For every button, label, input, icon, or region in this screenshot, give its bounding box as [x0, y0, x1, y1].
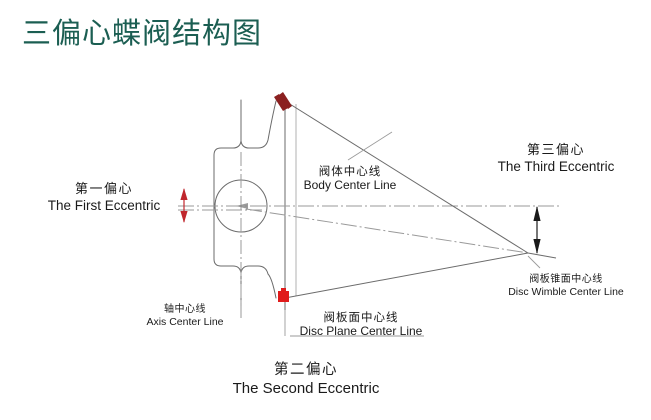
label-third-eccentric-en: The Third Eccentric — [462, 159, 650, 175]
label-third-eccentric-cn: 第三偏心 — [462, 143, 650, 159]
label-first-eccentric: 第一偏心 The First Eccentric — [14, 182, 194, 214]
disc-wimble-label-leader — [528, 256, 540, 268]
label-second-eccentric-cn: 第二偏心 — [186, 362, 426, 380]
label-body-center-line: 阀体中心线 Body Center Line — [288, 164, 412, 193]
label-first-eccentric-cn: 第一偏心 — [14, 182, 194, 198]
label-third-eccentric: 第三偏心 The Third Eccentric — [462, 143, 650, 175]
label-disc-wimble-center-line-en: Disc Wimble Center Line — [490, 286, 642, 299]
label-disc-plane-center-line-cn: 阀板面中心线 — [288, 310, 434, 324]
label-axis-center-line: 轴中心线 Axis Center Line — [126, 304, 244, 329]
label-disc-plane-center-line: 阀板面中心线 Disc Plane Center Line — [288, 310, 434, 339]
label-body-center-line-en: Body Center Line — [288, 178, 412, 193]
label-disc-plane-center-line-en: Disc Plane Center Line — [288, 324, 434, 339]
label-second-eccentric-en: The Second Eccentric — [186, 380, 426, 398]
body-center-line-leader — [348, 132, 392, 160]
third-eccentric-dimension-arrow — [533, 206, 540, 254]
label-second-eccentric: 第二偏心 The Second Eccentric — [186, 362, 426, 398]
label-disc-wimble-center-line: 阀板锥面中心线 Disc Wimble Center Line — [490, 274, 642, 299]
disc-cone-triangle — [285, 101, 556, 298]
label-axis-center-line-cn: 轴中心线 — [126, 304, 244, 316]
label-body-center-line-cn: 阀体中心线 — [288, 164, 412, 178]
diagram-canvas: 三偏心蝶阀结构图 — [0, 0, 651, 420]
label-first-eccentric-en: The First Eccentric — [14, 198, 194, 214]
label-disc-wimble-center-line-cn: 阀板锥面中心线 — [490, 274, 642, 286]
center-line-arrow-icon — [236, 203, 248, 209]
disc-wimble-center-line — [246, 209, 528, 253]
label-axis-center-line-en: Axis Center Line — [126, 316, 244, 329]
disc-seat-marker-bottom — [278, 288, 289, 302]
disc-seat-marker-top — [274, 92, 292, 111]
